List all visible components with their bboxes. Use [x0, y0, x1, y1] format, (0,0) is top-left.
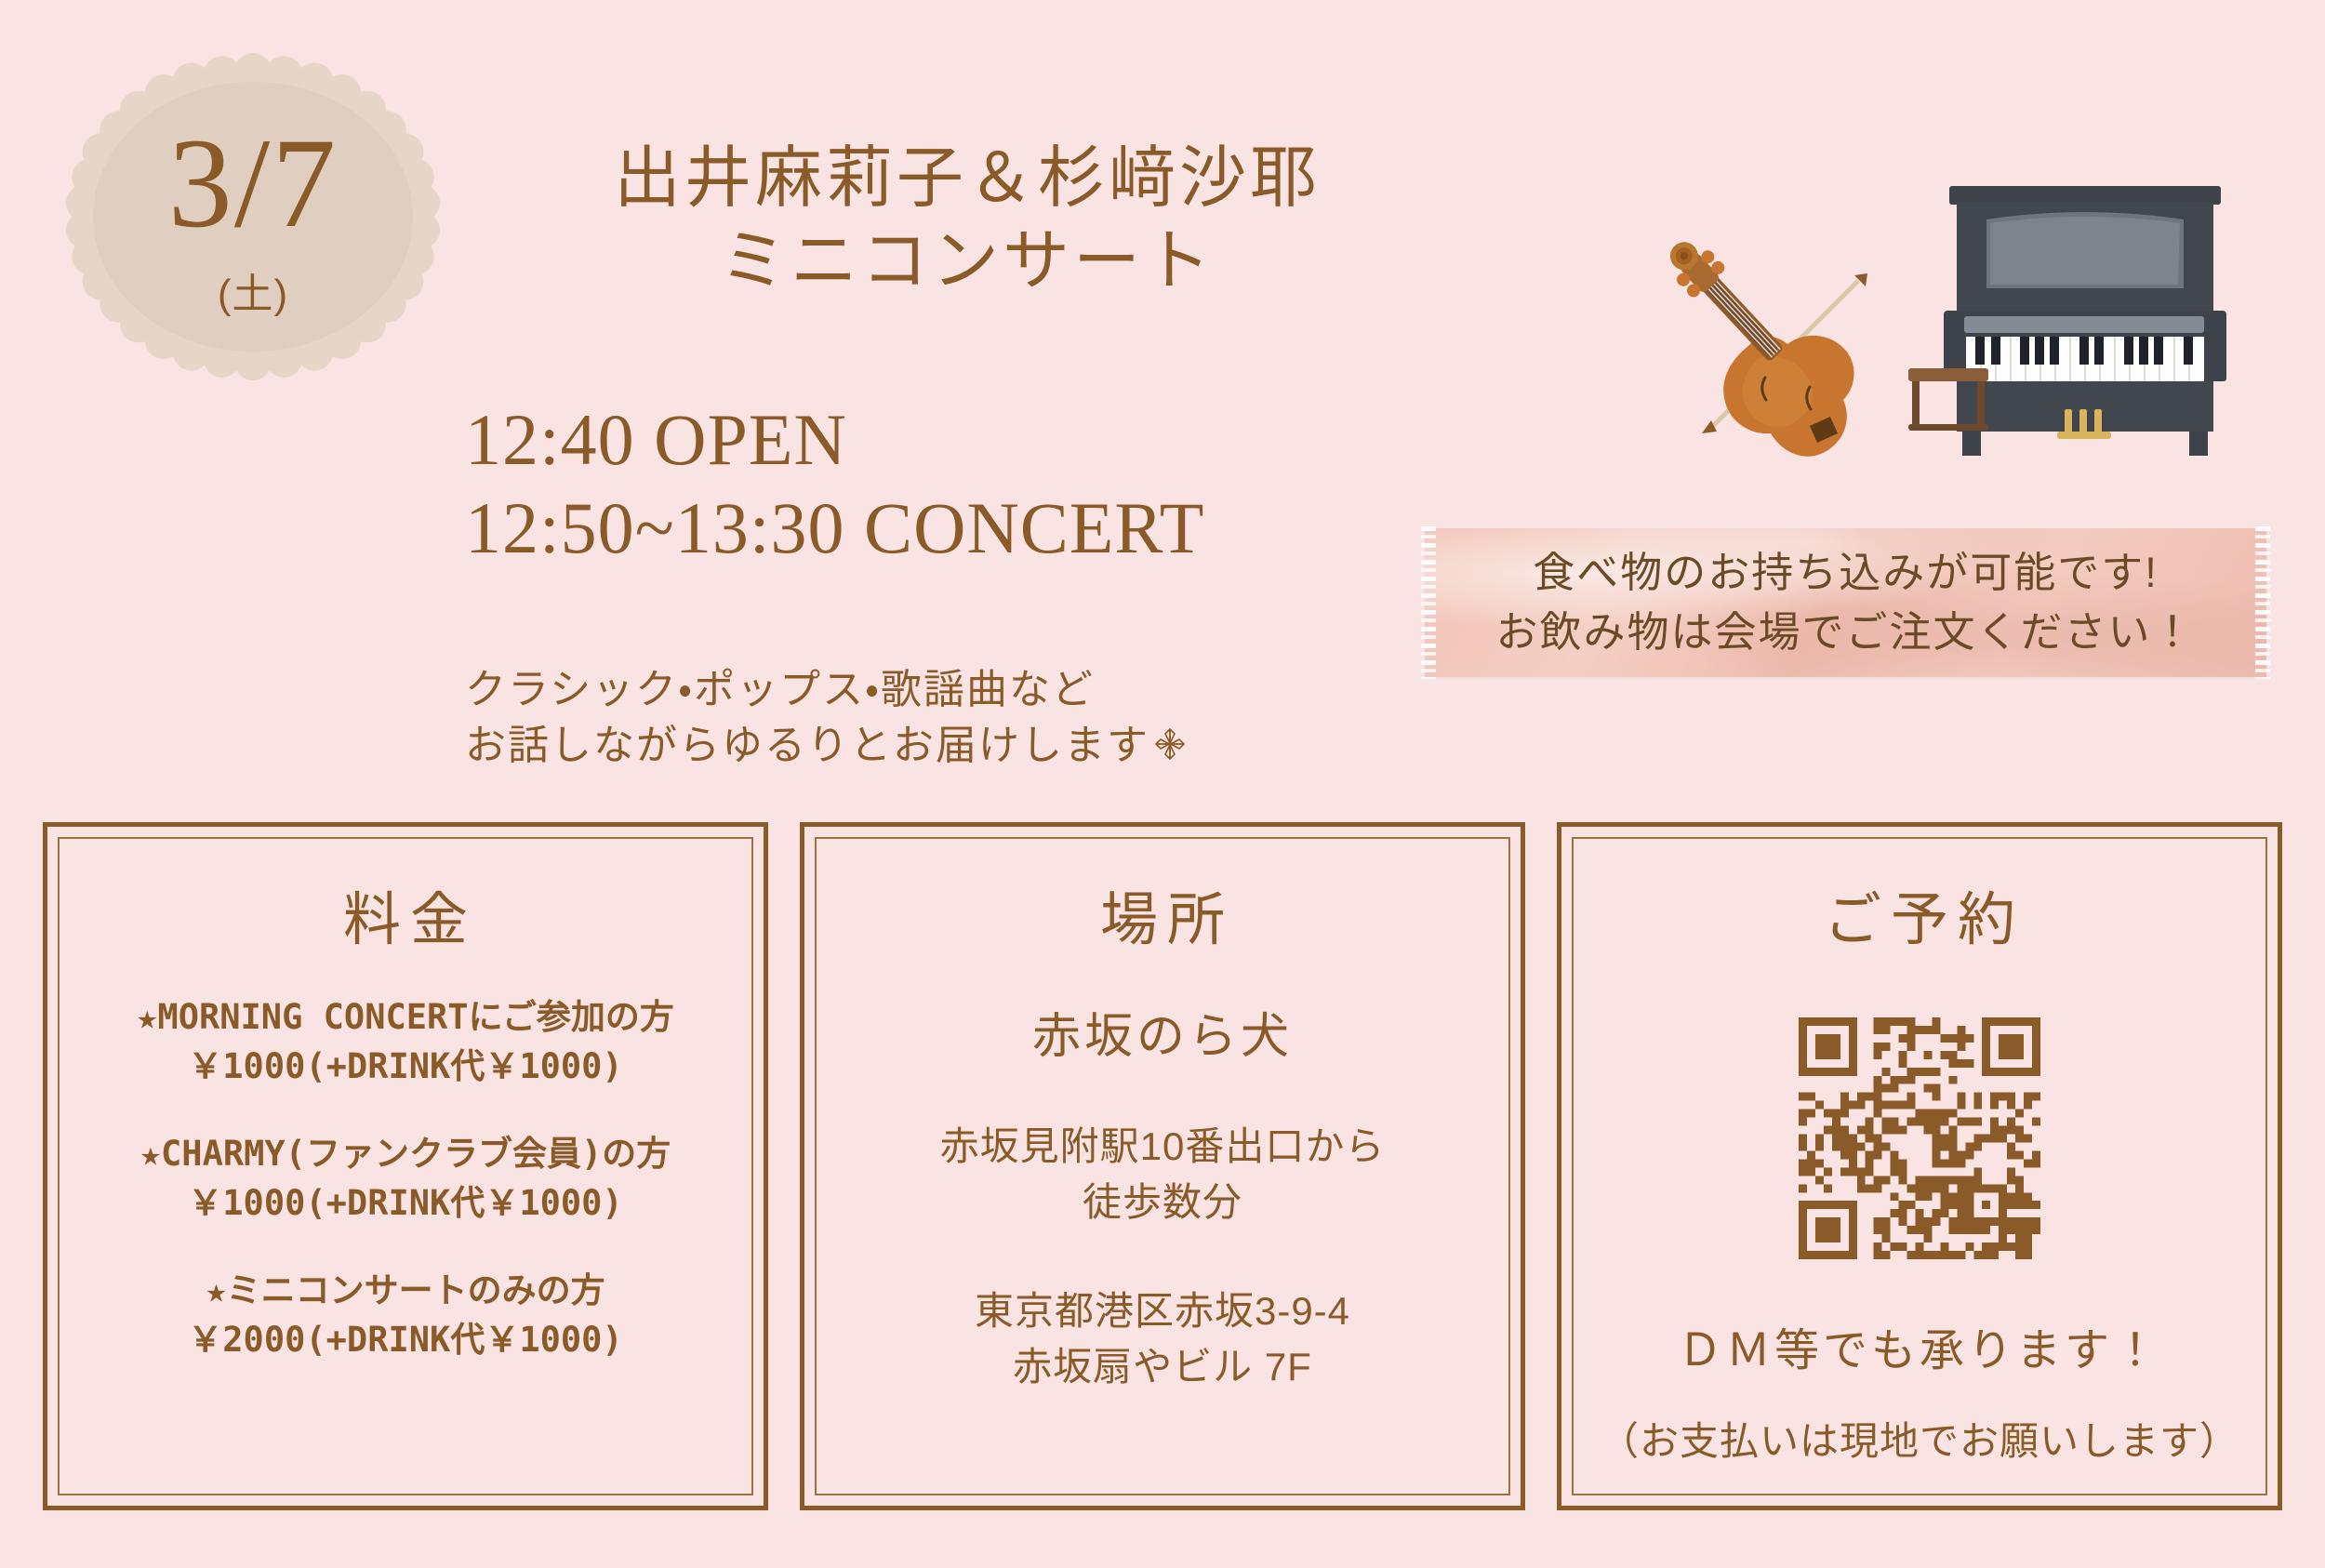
- sakura-flower-icon: [1151, 722, 1189, 777]
- schedule-block: 12:40 OPEN 12:50~13:30 CONCERT: [465, 395, 1204, 572]
- description-line-2: お話しながらゆるりとお届けします: [465, 723, 1149, 768]
- description-block: クラシック・ポップス・歌謡曲など お話しながらゆるりとお届けします: [465, 662, 1189, 777]
- reservation-box-inner: ご予約 ＤＭ等でも承ります！ （お支払いは現地でお願いします）: [1572, 837, 2267, 1495]
- fee-item-price: ￥2000(+DRINK代￥1000): [60, 1316, 751, 1365]
- venue-name: 赤坂のら犬: [940, 997, 1386, 1067]
- piano-icon: [1908, 186, 2226, 456]
- instruments-illustration: [1637, 167, 2251, 502]
- info-boxes-row: 料金 ★MORNING CONCERTにご参加の方 ￥1000(+DRINK代￥…: [43, 822, 2282, 1510]
- venue-box-title: 場所: [1091, 872, 1234, 956]
- notice-line-2: お飲み物は会場でご注文ください！: [1495, 603, 2195, 662]
- poster-root: 3/7 (土) 出井麻莉子＆杉﨑沙耶 ミニコンサート 12:40 OPEN 12…: [0, 0, 2325, 1568]
- fee-item-label: ★MORNING CONCERTにご参加の方: [60, 993, 751, 1043]
- fee-item: ★MORNING CONCERTにご参加の方 ￥1000(+DRINK代￥100…: [60, 993, 751, 1091]
- fee-item-label: ★CHARMY(ファンクラブ会員)の方: [60, 1130, 751, 1179]
- venue-access-line-2: 徒歩数分: [940, 1175, 1386, 1230]
- description-line-2-wrap: お話しながらゆるりとお届けします: [465, 718, 1189, 777]
- venue-access-line-1: 赤坂見附駅10番出口から: [940, 1119, 1386, 1175]
- concert-time: 12:50~13:30 CONCERT: [465, 484, 1204, 572]
- title-line-performers: 出井麻莉子＆杉﨑沙耶: [465, 138, 1469, 220]
- fee-item-price: ￥1000(+DRINK代￥1000): [60, 1179, 751, 1229]
- description-line-1: クラシック・ポップス・歌謡曲など: [465, 662, 1189, 718]
- venue-box-inner: 場所 赤坂のら犬 赤坂見附駅10番出口から 徒歩数分 東京都港区赤坂3-9-4 …: [815, 837, 1510, 1495]
- venue-box: 場所 赤坂のら犬 赤坂見附駅10番出口から 徒歩数分 東京都港区赤坂3-9-4 …: [800, 822, 1525, 1510]
- fee-item-label: ★ミニコンサートのみの方: [60, 1267, 751, 1316]
- reservation-box: ご予約 ＤＭ等でも承ります！ （お支払いは現地でお願いします）: [1557, 822, 2282, 1510]
- violin-icon: [1657, 230, 1867, 456]
- title-line-event: ミニコンサート: [465, 220, 1469, 303]
- qr-code[interactable]: [1799, 1017, 2040, 1259]
- reservation-payment-note: （お支払いは現地でお願いします）: [1600, 1410, 2239, 1467]
- venue-body: 赤坂のら犬 赤坂見附駅10番出口から 徒歩数分 東京都港区赤坂3-9-4 赤坂扇…: [940, 997, 1386, 1395]
- fee-box-title: 料金: [334, 872, 477, 956]
- poster-title: 出井麻莉子＆杉﨑沙耶 ミニコンサート: [465, 138, 1469, 304]
- food-drink-notice-banner: 食べ物のお持ち込みが可能です! お飲み物は会場でご注文ください！: [1425, 528, 2266, 677]
- fee-item: ★CHARMY(ファンクラブ会員)の方 ￥1000(+DRINK代￥1000): [60, 1130, 751, 1228]
- fee-item: ★ミニコンサートのみの方 ￥2000(+DRINK代￥1000): [60, 1267, 751, 1364]
- fee-box-inner: 料金 ★MORNING CONCERTにご参加の方 ￥1000(+DRINK代￥…: [58, 837, 753, 1495]
- date-badge: 3/7 (土): [67, 63, 439, 370]
- venue-address-line-2: 赤坂扇やビル 7F: [940, 1339, 1386, 1395]
- fee-list: ★MORNING CONCERTにご参加の方 ￥1000(+DRINK代￥100…: [60, 993, 751, 1364]
- event-date: 3/7: [67, 119, 439, 247]
- open-time: 12:40 OPEN: [465, 395, 1204, 484]
- fee-box: 料金 ★MORNING CONCERTにご参加の方 ￥1000(+DRINK代￥…: [43, 822, 768, 1510]
- event-day-of-week: (土): [67, 260, 439, 320]
- fee-item-price: ￥1000(+DRINK代￥1000): [60, 1043, 751, 1092]
- reservation-box-title: ご予約: [1814, 872, 2025, 956]
- venue-spacer: [940, 1229, 1386, 1283]
- venue-address-line-1: 東京都港区赤坂3-9-4: [940, 1283, 1386, 1339]
- notice-line-1: 食べ物のお持ち込みが可能です!: [1533, 543, 2159, 603]
- reservation-dm-text: ＤＭ等でも承ります！: [1678, 1313, 2161, 1378]
